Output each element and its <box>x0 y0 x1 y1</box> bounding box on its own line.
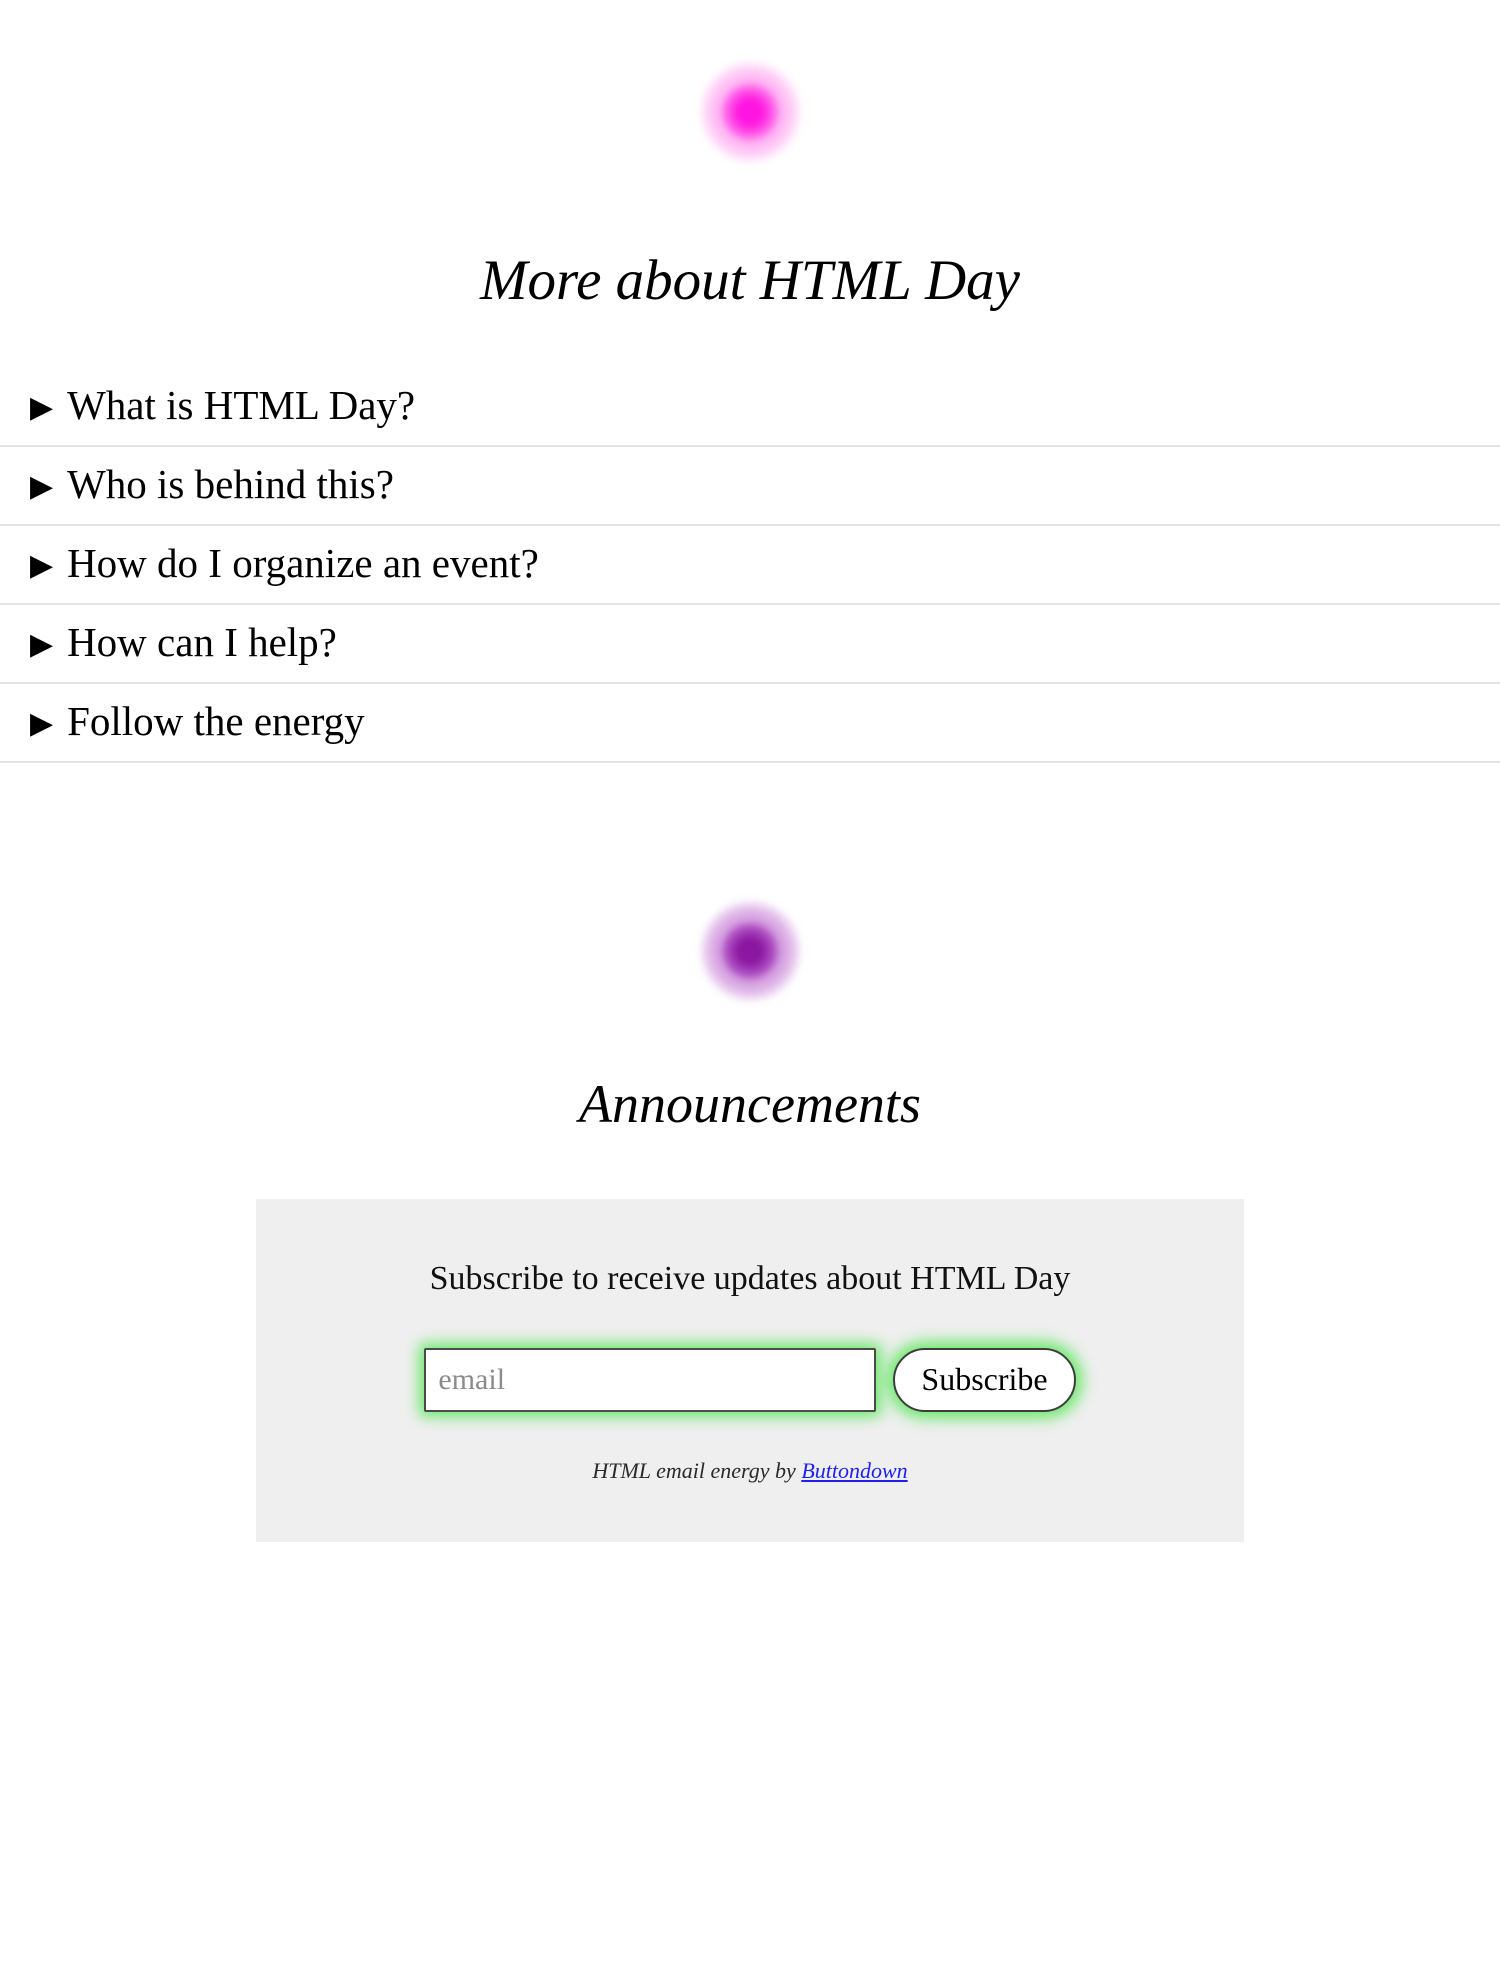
subscribe-prompt: Subscribe to receive updates about HTML … <box>256 1259 1244 1300</box>
list-item: ▶ What is HTML Day? <box>0 368 1500 447</box>
disclosure-triangle-icon[interactable]: ▶ <box>30 551 53 581</box>
top-spacer <box>0 0 1500 52</box>
disclosure-triangle-icon[interactable]: ▶ <box>30 393 53 423</box>
credit-prefix: HTML email energy by <box>592 1458 801 1483</box>
announcements-spacer <box>0 1011 1500 1075</box>
email-input[interactable] <box>424 1348 876 1412</box>
faq-summary-follow-the-energy[interactable]: ▶ Follow the energy <box>20 684 1480 761</box>
disclosure-triangle-icon[interactable]: ▶ <box>30 630 53 660</box>
disclosure-triangle-icon[interactable]: ▶ <box>30 709 53 739</box>
page-title: More about HTML Day <box>0 250 1500 313</box>
faq-item-label: Who is behind this? <box>67 461 394 508</box>
top-starburst-wrap <box>0 52 1500 172</box>
faq-item-label: What is HTML Day? <box>67 382 415 429</box>
faq-summary-who-is-behind-this[interactable]: ▶ Who is behind this? <box>20 447 1480 524</box>
list-item: ▶ Follow the energy <box>0 684 1500 763</box>
mid-spacer <box>0 763 1500 891</box>
faq-summary-how-do-i-organize-an-event[interactable]: ▶ How do I organize an event? <box>20 526 1480 603</box>
faq-item-label: How do I organize an event? <box>67 540 539 587</box>
subscribe-credit: HTML email energy by Buttondown <box>256 1458 1244 1484</box>
title-spacer <box>0 172 1500 250</box>
faq-summary-what-is-html-day[interactable]: ▶ What is HTML Day? <box>20 368 1480 445</box>
announcements-title: Announcements <box>0 1075 1500 1134</box>
list-spacer <box>0 313 1500 368</box>
subscribe-button[interactable]: Subscribe <box>893 1348 1075 1412</box>
panel-spacer <box>0 1135 1500 1199</box>
subscribe-form: Subscribe <box>256 1348 1244 1412</box>
subscribe-panel: Subscribe to receive updates about HTML … <box>256 1199 1244 1542</box>
faq-item-label: Follow the energy <box>67 698 365 745</box>
list-item: ▶ How can I help? <box>0 605 1500 684</box>
list-item: ▶ How do I organize an event? <box>0 526 1500 605</box>
page-root: { "decor": { "top_starburst": { "icon": … <box>0 0 1500 1963</box>
mid-starburst-wrap <box>0 891 1500 1011</box>
starburst-icon <box>690 52 810 172</box>
faq-list: ▶ What is HTML Day? ▶ Who is behind this… <box>0 368 1500 764</box>
faq-summary-how-can-i-help[interactable]: ▶ How can I help? <box>20 605 1480 682</box>
buttondown-link[interactable]: Buttondown <box>801 1458 907 1483</box>
disclosure-triangle-icon[interactable]: ▶ <box>30 472 53 502</box>
starburst-icon <box>690 891 810 1011</box>
list-item: ▶ Who is behind this? <box>0 447 1500 526</box>
faq-item-label: How can I help? <box>67 619 337 666</box>
